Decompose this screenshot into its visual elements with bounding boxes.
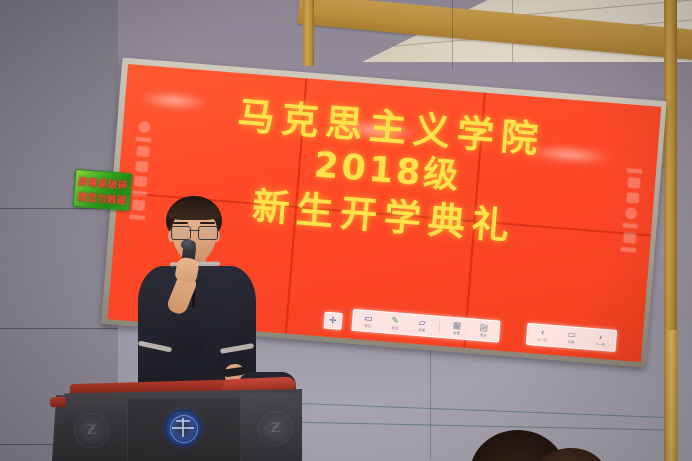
screen-icon[interactable]: ▱ [418, 318, 426, 328]
screen-nav-toolbar[interactable]: ‹ 上一页 ▭ 列表 › 下一页 [526, 323, 617, 352]
toolbar-item-label: 批注 [391, 326, 398, 331]
screen-bottom-toolbar[interactable]: ▭ 窗口 ✎ 批注 ▱ 屏幕 ▦ 设置 ▤ 更多 [351, 309, 500, 343]
toolbar-item-more[interactable]: ▤ 更多 [473, 323, 494, 339]
wall-seam [452, 0, 453, 70]
toolbar-item-settings[interactable]: ▦ 设置 [446, 320, 467, 336]
screen-badge-button[interactable]: ✛ [323, 312, 342, 330]
toolbar-item-label: 窗口 [364, 324, 371, 329]
tag-icon[interactable] [626, 192, 639, 203]
podium: Ƶ Ƶ [52, 385, 320, 461]
pen-icon[interactable]: ✎ [391, 316, 399, 326]
toolbar-divider [438, 321, 440, 333]
toolbar-item-label: 更多 [480, 333, 487, 338]
toolbar-item-screen[interactable]: ▱ 屏幕 [411, 318, 432, 334]
chevron-right-icon[interactable]: › [599, 333, 603, 342]
gear-icon[interactable]: ▦ [452, 321, 461, 331]
podium-side-clip [50, 397, 67, 408]
lens-left [171, 226, 191, 240]
bar-icon[interactable] [627, 168, 642, 173]
nav-next-label: 下一页 [595, 342, 605, 347]
crest-bar-top [176, 420, 190, 422]
window-icon[interactable] [627, 177, 640, 188]
chevron-left-icon[interactable]: ‹ [541, 328, 545, 337]
wall-seam [0, 328, 120, 329]
tag-icon[interactable] [135, 161, 148, 172]
glasses [171, 226, 218, 238]
toolbar-item-annotate[interactable]: ✎ 批注 [385, 315, 406, 331]
play-icon[interactable] [139, 121, 151, 133]
nav-next-button[interactable]: › 下一页 [590, 332, 611, 348]
window-icon[interactable] [136, 146, 149, 157]
nav-prev-label: 上一页 [537, 338, 547, 343]
wood-column [303, 0, 314, 66]
lens-right [198, 226, 218, 240]
university-crest-icon [164, 409, 202, 447]
more-icon[interactable]: ▤ [479, 323, 488, 333]
nav-list-label: 列表 [568, 340, 575, 345]
toolbar-item-window[interactable]: ▭ 窗口 [358, 313, 379, 329]
bar-icon[interactable] [136, 137, 151, 142]
monitor-icon[interactable] [623, 232, 636, 243]
list-icon[interactable]: ▭ [567, 330, 576, 340]
wood-column-lower [666, 330, 678, 461]
mouse-icon[interactable] [134, 176, 147, 187]
nav-list-button[interactable]: ▭ 列表 [561, 330, 582, 346]
arrows-icon[interactable] [623, 223, 638, 228]
eyebrow-left [173, 222, 188, 224]
toolbar-item-label: 屏幕 [418, 328, 425, 333]
crosshair-icon[interactable]: ✛ [329, 316, 337, 326]
camera-icon[interactable] [625, 207, 637, 219]
eyebrow-right [200, 222, 215, 224]
photo-scene: 马克思主义学院 2018级 新生开学典礼 [0, 0, 692, 461]
window-icon[interactable]: ▭ [364, 314, 373, 324]
podium-side-emblem-right: Ƶ [258, 411, 293, 446]
nav-prev-button[interactable]: ‹ 上一页 [532, 327, 553, 343]
toolbar-item-label: 设置 [453, 331, 460, 336]
microphone-head [180, 239, 196, 251]
podium-side-emblem-left: Ƶ [74, 413, 109, 448]
